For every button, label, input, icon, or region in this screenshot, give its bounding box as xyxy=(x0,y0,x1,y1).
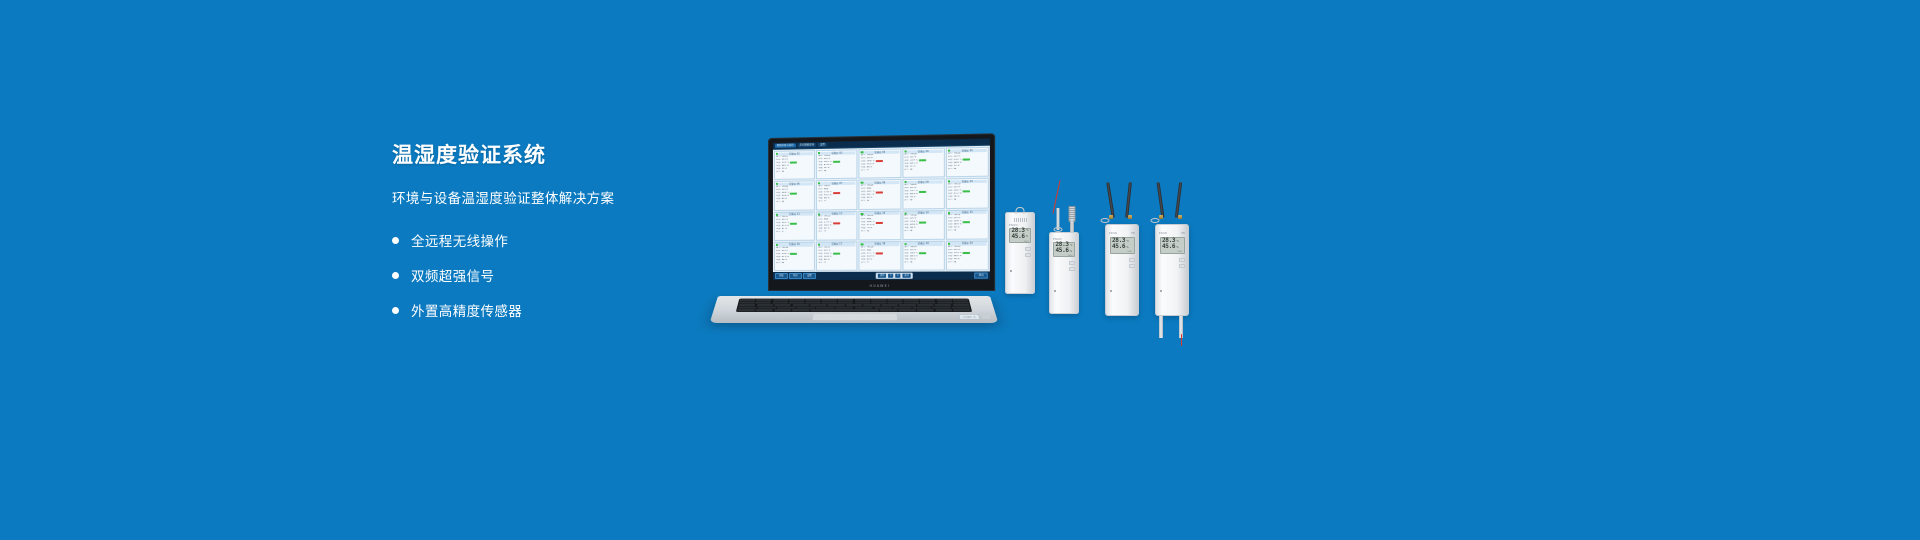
pagination-button-2[interactable]: 2 xyxy=(895,274,901,278)
monitoring-card[interactable]: 记录仪 15编号:TH-15状态:运行中温度:24.8 ℃湿度:48.5 %电量… xyxy=(946,209,989,239)
monitoring-card[interactable]: 记录仪 18编号:TH-18状态:报警温度:27.1 ℃湿度:53.9 %电量:… xyxy=(859,241,901,271)
spec-sticker-label: CORE i5 xyxy=(963,316,976,318)
keyboard-key[interactable] xyxy=(953,309,971,311)
lcd-footer-label: %RH xyxy=(1162,251,1182,253)
lcd-footer-label: %RH xyxy=(1112,251,1132,253)
card-row-value: 中 xyxy=(824,231,826,234)
card-row-value: 中 xyxy=(782,231,784,234)
device-wireless-a: ENON HB 28.3 ℃ 45.6 % %RH xyxy=(1105,182,1139,316)
list-item: 双频超强信号 xyxy=(392,262,722,288)
laptop-screen: 数据采集与监控历史数据查询设置 记录仪 01编号:TH-01状态:运行中温度:2… xyxy=(773,139,990,280)
device-body: ENON HB 28.3 ℃ 45.6 % %RH xyxy=(1105,224,1139,316)
page-subtitle: 环境与设备温湿度验证整体解决方案 xyxy=(392,187,722,207)
humidity-unit: % xyxy=(1126,247,1128,250)
monitoring-card[interactable]: 记录仪 01编号:TH-01状态:运行中温度:23.5 ℃湿度:48.2 %电量… xyxy=(774,150,815,180)
monitoring-card[interactable]: 记录仪 09编号:TH-09状态:运行中温度:23.7 ℃湿度:48.9 %电量… xyxy=(902,179,945,209)
card-row-value: 强 xyxy=(910,230,912,233)
keyboard-key[interactable] xyxy=(880,309,897,311)
card-row: 信号:强 xyxy=(776,262,813,265)
card-row-value: 强 xyxy=(954,230,956,233)
status-led-icon xyxy=(1054,290,1056,292)
status-led-icon xyxy=(861,243,863,245)
device-body: ENON 28.3 ℃ 45.6 % %RH xyxy=(1049,232,1079,314)
hanging-loop-icon xyxy=(1101,218,1110,223)
card-row: 信号:中 xyxy=(776,231,813,234)
card-row: 信号:强 xyxy=(948,199,987,203)
card-row-value: 强 xyxy=(910,199,912,202)
keyboard-row xyxy=(737,309,970,311)
pagination-button-0[interactable]: 首页 xyxy=(878,274,887,278)
lcd-footer-label: %RH xyxy=(1012,241,1029,243)
card-row-label: 信号: xyxy=(904,261,909,264)
card-row-value: 强 xyxy=(910,169,912,172)
monitoring-card[interactable]: 记录仪 03编号:TH-03状态:运行中温度:26.8 ℃湿度:52.3 %电量… xyxy=(859,148,901,178)
laptop-brand-bezel: HUAWEI xyxy=(768,280,995,291)
card-row-label: 信号: xyxy=(904,230,909,233)
card-row-value: 强 xyxy=(954,261,956,264)
card-row: 信号:中 xyxy=(818,200,856,204)
lcd-display: 28.3 ℃ 45.6 % %RH xyxy=(1160,237,1185,254)
laptop-base: CORE i5 xyxy=(710,296,999,323)
card-row-label: 信号: xyxy=(948,230,953,233)
device-button-down[interactable] xyxy=(1129,264,1135,268)
device-button-up[interactable] xyxy=(1025,247,1031,251)
software-bottom-toolbar: 开始导出设置首页12末页退出 xyxy=(773,271,990,280)
pagination[interactable]: 首页12末页 xyxy=(876,273,913,279)
device-button-down[interactable] xyxy=(1179,264,1185,268)
software-tab-0[interactable]: 数据采集与监控 xyxy=(775,143,796,148)
card-row: 信号:强 xyxy=(818,170,856,174)
monitoring-card[interactable]: 记录仪 14编号:TH-14状态:运行中温度:23.4 ℃湿度:49.8 %电量… xyxy=(902,210,945,240)
brand-label: HUAWEI xyxy=(870,283,891,287)
sma-connector-right-icon xyxy=(1128,215,1132,219)
card-row-label: 信号: xyxy=(818,231,823,234)
antenna-left-icon xyxy=(1106,182,1115,218)
humidity-value: 45.6 xyxy=(1162,244,1175,250)
laptop-product-image: 数据采集与监控历史数据查询设置 记录仪 01编号:TH-01状态:运行中温度:2… xyxy=(718,138,990,298)
spec-sticker: CORE i5 xyxy=(958,314,980,319)
card-row-label: 信号: xyxy=(948,168,953,171)
card-row-label: 信号: xyxy=(776,262,781,265)
humidity-value: 45.6 xyxy=(1112,244,1125,250)
card-row-value: 弱 xyxy=(867,231,869,234)
laptop-trackpad[interactable] xyxy=(812,313,899,321)
card-row-value: 强 xyxy=(782,201,784,204)
device-port-labels: ENON HB xyxy=(1106,232,1138,235)
device-logger-probe: ENON 28.3 ℃ 45.6 % %RH xyxy=(1049,194,1079,314)
status-led-icon xyxy=(1160,290,1162,292)
monitoring-card[interactable]: 记录仪 17编号:TH-17状态:运行中温度:25.6 ℃湿度:50.8 %电量… xyxy=(816,241,858,271)
bullet-dot-icon xyxy=(392,237,399,244)
device-wireless-b: ENON HB 28.3 ℃ 45.6 % %RH xyxy=(1155,182,1189,316)
exit-button[interactable]: 退出 xyxy=(975,272,988,279)
monitoring-card[interactable]: 记录仪 05编号:TH-05状态:运行中温度:23.2 ℃湿度:46.8 %电量… xyxy=(946,147,989,178)
power-button[interactable] xyxy=(981,315,991,319)
status-led-icon xyxy=(904,243,906,245)
bullet-dot-icon xyxy=(392,307,399,314)
card-row-label: 信号: xyxy=(948,261,953,264)
humidity-unit: % xyxy=(1070,251,1072,254)
feature-list: 全远程无线操作 双频超强信号 外置高精度传感器 xyxy=(392,227,722,323)
device-button-down[interactable] xyxy=(1069,267,1075,271)
device-button-group[interactable] xyxy=(1179,258,1185,268)
monitoring-card[interactable]: 记录仪 07编号:TH-07状态:报警温度:27.4 ℃湿度:55.2 %电量:… xyxy=(816,180,858,210)
device-button-up[interactable] xyxy=(1179,258,1185,262)
humidity-value: 45.6 xyxy=(1012,234,1025,240)
sma-connector-left-icon xyxy=(1159,215,1163,219)
lcd-display: 28.3 ℃ 45.6 % %RH xyxy=(1110,237,1135,254)
status-led-icon xyxy=(904,212,906,214)
card-row-value: 强 xyxy=(954,168,956,171)
lcd-display: 28.3 ℃ 45.6 % %RH xyxy=(1053,242,1075,257)
card-row-label: 信号: xyxy=(776,231,781,234)
monitoring-card[interactable]: 记录仪 10编号:TH-10状态:运行中温度:24.3 ℃湿度:47.2 %电量… xyxy=(946,178,989,209)
status-led-icon xyxy=(861,212,863,214)
card-row-label: 信号: xyxy=(948,199,953,202)
keyboard-key[interactable] xyxy=(811,309,879,311)
status-led-icon xyxy=(1110,290,1112,292)
lcd-footer-label: %RH xyxy=(1056,255,1073,257)
monitoring-card[interactable]: 记录仪 13编号:TH-13状态:报警温度:28.6 ℃湿度:57.3 %电量:… xyxy=(859,210,901,240)
device-group: ENON 28.3 ℃ 45.6 % %RH xyxy=(1005,180,1225,340)
monitoring-card-grid: 记录仪 01编号:TH-01状态:运行中温度:23.5 ℃湿度:48.2 %电量… xyxy=(773,146,990,272)
card-row-label: 信号: xyxy=(776,201,781,204)
monitoring-card[interactable]: 记录仪 02编号:TH-02状态:运行中温度:24.1 ℃湿度:47.6 %电量… xyxy=(816,149,858,179)
card-row-value: 中 xyxy=(824,261,826,264)
card-row: 信号:强 xyxy=(904,168,943,172)
hanging-loop-icon xyxy=(1151,218,1160,223)
card-row-label: 信号: xyxy=(861,169,866,172)
feature-label: 外置高精度传感器 xyxy=(411,300,522,320)
pagination-button-3[interactable]: 末页 xyxy=(902,274,911,278)
status-led-icon xyxy=(904,150,906,152)
device-label-left: ENON xyxy=(1109,232,1117,235)
software-toolbar-button-0[interactable]: 开始 xyxy=(775,273,788,279)
antenna-right-icon xyxy=(1125,182,1132,218)
card-row-label: 信号: xyxy=(861,261,866,264)
humidity-unit: % xyxy=(1176,247,1178,250)
card-row: 信号:强 xyxy=(904,199,943,203)
card-row: 信号:强 xyxy=(776,201,813,204)
monitoring-card[interactable]: 记录仪 11编号:TH-11状态:运行中温度:25.2 ℃湿度:51.0 %电量… xyxy=(774,211,815,241)
card-row-value: 中 xyxy=(867,261,869,264)
card-row: 信号:中 xyxy=(818,231,856,234)
software-tab-2[interactable]: 设置 xyxy=(818,143,827,148)
feature-label: 双频超强信号 xyxy=(411,265,494,285)
monitoring-card[interactable]: 记录仪 20编号:TH-20状态:运行中温度:23.3 ℃湿度:46.5 %电量… xyxy=(946,240,989,270)
keyboard-key[interactable] xyxy=(737,309,755,311)
list-item: 外置高精度传感器 xyxy=(392,297,722,323)
card-row-label: 信号: xyxy=(818,261,823,264)
status-led-icon xyxy=(776,244,778,246)
card-row-value: 强 xyxy=(782,171,784,174)
list-item: 全远程无线操作 xyxy=(392,227,722,253)
feature-label: 全远程无线操作 xyxy=(411,230,508,250)
software-toolbar-button-1[interactable]: 导出 xyxy=(789,273,802,279)
status-led-icon xyxy=(948,150,950,152)
sensor-vent-icon xyxy=(1014,218,1027,222)
device-button-up[interactable] xyxy=(1069,261,1075,265)
status-led-icon xyxy=(948,243,950,245)
card-row: 信号:中 xyxy=(818,261,856,264)
keyboard-key[interactable] xyxy=(756,309,773,311)
card-row-label: 信号: xyxy=(861,231,866,234)
pagination-button-1[interactable]: 1 xyxy=(888,274,894,278)
keyboard-key[interactable] xyxy=(774,309,791,311)
card-row-label: 信号: xyxy=(904,199,909,202)
card-row-value: 强 xyxy=(782,262,784,265)
card-row-value: 中 xyxy=(867,169,869,172)
laptop-keyboard xyxy=(736,299,972,312)
card-row-label: 信号: xyxy=(776,171,781,174)
device-label-right: HB xyxy=(1181,232,1185,235)
device-button-up[interactable] xyxy=(1129,258,1135,262)
laptop-lid: 数据采集与监控历史数据查询设置 记录仪 01编号:TH-01状态:运行中温度:2… xyxy=(768,133,995,291)
hanging-loop-icon xyxy=(1054,227,1063,232)
hanging-clip-icon xyxy=(1016,207,1025,214)
device-body: ENON HB 28.3 ℃ 45.6 % %RH xyxy=(1155,224,1189,316)
monitoring-card[interactable]: 记录仪 06编号:TH-06状态:运行中温度:24.6 ℃湿度:50.4 %电量… xyxy=(774,181,815,211)
card-row-label: 信号: xyxy=(818,201,823,204)
card-row: 信号:中 xyxy=(861,169,899,173)
monitoring-card[interactable]: 记录仪 12编号:TH-12状态:报警温度:27.9 ℃湿度:54.5 %电量:… xyxy=(816,211,858,241)
card-row-label: 信号: xyxy=(861,200,866,203)
sma-connector-right-icon xyxy=(1178,215,1182,219)
card-row: 信号:强 xyxy=(948,261,987,264)
card-row-value: 弱 xyxy=(867,200,869,203)
device-port-labels: ENON HB xyxy=(1156,232,1188,235)
bullet-dot-icon xyxy=(392,272,399,279)
status-led-icon xyxy=(948,212,950,214)
status-led-icon xyxy=(776,213,778,215)
antenna-left-icon xyxy=(1157,182,1165,218)
card-row-value: 强 xyxy=(910,261,912,264)
device-button-down[interactable] xyxy=(1025,253,1031,257)
software-tab-1[interactable]: 历史数据查询 xyxy=(798,143,816,148)
keyboard-key[interactable] xyxy=(792,309,809,311)
device-button-group[interactable] xyxy=(1025,247,1031,257)
probe-neck xyxy=(1070,220,1074,232)
keyboard-key[interactable] xyxy=(898,309,915,311)
monitoring-card[interactable]: 记录仪 08编号:TH-08状态:报警温度:28.1 ℃湿度:56.7 %电量:… xyxy=(859,179,901,209)
monitoring-card[interactable]: 记录仪 16编号:TH-16状态:运行中温度:23.8 ℃湿度:47.9 %电量… xyxy=(774,241,815,271)
keyboard-key[interactable] xyxy=(935,309,952,311)
device-button-group[interactable] xyxy=(1129,258,1135,268)
software-toolbar-button-2[interactable]: 设置 xyxy=(803,273,816,279)
card-row: 信号:强 xyxy=(776,170,813,174)
card-row: 信号:中 xyxy=(861,261,899,264)
hero-text-block: 温湿度验证系统 环境与设备温湿度验证整体解决方案 全远程无线操作 双频超强信号 … xyxy=(392,142,722,332)
sma-connector-left-icon xyxy=(1109,215,1113,219)
card-row: 信号:弱 xyxy=(861,200,899,204)
card-row: 信号:强 xyxy=(904,230,943,233)
card-row-label: 信号: xyxy=(904,169,909,172)
device-button-group[interactable] xyxy=(1069,261,1075,271)
external-probe-left xyxy=(1159,316,1163,338)
card-row: 信号:强 xyxy=(904,261,943,264)
page-title: 温湿度验证系统 xyxy=(392,142,722,168)
card-row-label: 信号: xyxy=(818,170,823,173)
monitoring-card[interactable]: 记录仪 04编号:TH-04状态:运行中温度:23.9 ℃湿度:49.1 %电量… xyxy=(902,148,945,179)
card-row: 信号:强 xyxy=(948,230,987,233)
card-row: 信号:弱 xyxy=(861,230,899,233)
device-label-right: HB xyxy=(1131,232,1135,235)
antenna-right-icon xyxy=(1175,182,1183,218)
monitoring-card[interactable]: 记录仪 19编号:TH-19状态:运行中温度:24.0 ℃湿度:48.0 %电量… xyxy=(902,241,945,271)
humidity-unit: % xyxy=(1026,236,1028,239)
status-led-icon xyxy=(861,151,863,153)
device-logger-compact: ENON 28.3 ℃ 45.6 % %RH xyxy=(1005,212,1035,294)
lcd-display: 28.3 ℃ 45.6 % %RH xyxy=(1009,228,1031,243)
card-row-value: 强 xyxy=(824,170,826,173)
status-led-icon xyxy=(1010,270,1012,272)
keyboard-key[interactable] xyxy=(917,309,934,311)
device-body: ENON 28.3 ℃ 45.6 % %RH xyxy=(1005,212,1035,294)
humidity-value: 45.6 xyxy=(1056,248,1069,254)
device-label-left: ENON xyxy=(1159,232,1167,235)
card-row-value: 强 xyxy=(954,199,956,202)
card-row: 信号:强 xyxy=(948,167,987,171)
card-row-value: 中 xyxy=(824,200,826,203)
